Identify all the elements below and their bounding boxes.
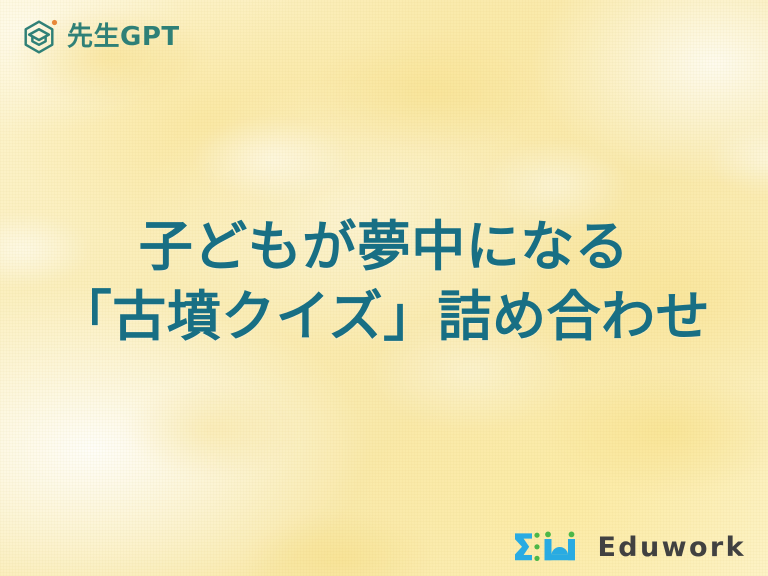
title-line-2: 「古墳クイズ」詰め合わせ xyxy=(24,282,744,352)
header-brand-name: 先生GPT xyxy=(67,24,180,50)
footer-brand-lockup[interactable]: Eduwork xyxy=(512,530,746,564)
orange-dot-icon xyxy=(51,19,58,26)
footer-brand-name: Eduwork xyxy=(597,534,746,561)
slide-canvas: 先生GPT 子どもが夢中になる 「古墳クイズ」詰め合わせ Eduwork xyxy=(0,0,768,576)
title-line-1: 子どもが夢中になる xyxy=(24,212,744,282)
header-brand-lockup[interactable]: 先生GPT xyxy=(20,18,180,56)
eduwork-ew-monogram-icon xyxy=(512,530,586,564)
page-title: 子どもが夢中になる 「古墳クイズ」詰め合わせ xyxy=(0,212,768,352)
